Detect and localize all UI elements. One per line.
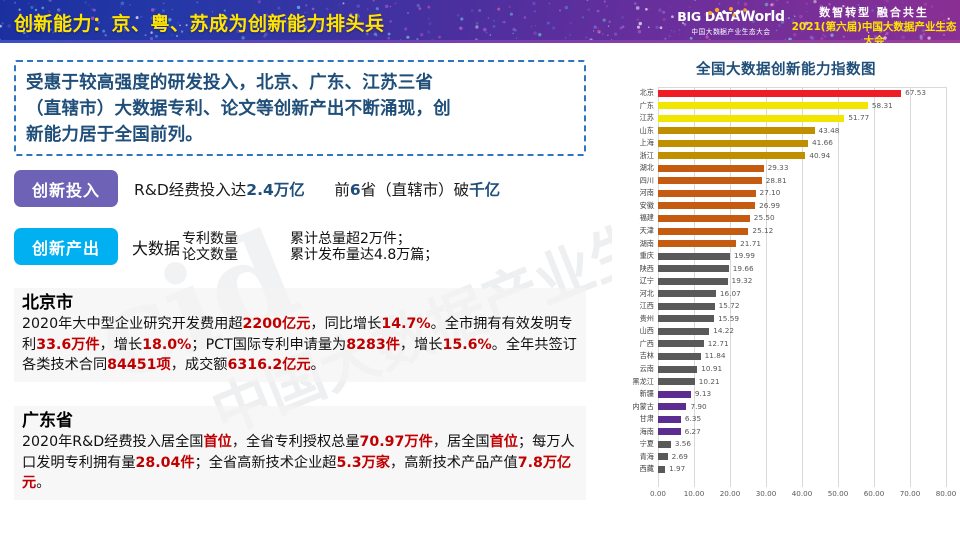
- highlight-value: 84451项: [107, 357, 171, 373]
- bigdata-world-logo: BIG DATAWorld 中国大数据产业生态大会: [676, 4, 786, 40]
- chart-category-label: 广东: [612, 100, 654, 113]
- chart-category-label: 浙江: [612, 150, 654, 163]
- chart-bar-row: 北京67.53: [658, 87, 946, 100]
- highlight-value: 首位: [490, 434, 518, 450]
- header-bar: 创新能力：京、粤、苏成为创新能力排头兵 BIG DATAWorld 中国大数据产…: [0, 0, 960, 43]
- chart-value-label: 14.22: [713, 325, 734, 338]
- top-provinces-suffix: 省（直辖市）破: [361, 181, 470, 199]
- chart-value-label: 12.71: [708, 338, 729, 351]
- logo-dot-cluster: [700, 5, 756, 17]
- chart-category-label: 山西: [612, 325, 654, 338]
- chart-bar-row: 广东58.31: [658, 100, 946, 113]
- chart-category-label: 贵州: [612, 313, 654, 326]
- chart-bar-row: 山西14.22: [658, 325, 946, 338]
- chart-value-label: 11.84: [705, 350, 726, 363]
- chart-bar-row: 贵州15.59: [658, 313, 946, 326]
- highlight-value: 6316.2亿元: [227, 357, 310, 373]
- chart-bar-row: 云南10.91: [658, 363, 946, 376]
- chart-value-label: 25.50: [754, 212, 775, 225]
- logo-subtitle: 中国大数据产业生态大会: [676, 26, 786, 36]
- chart-category-label: 上海: [612, 137, 654, 150]
- rd-expense-value: 2.4万亿: [246, 181, 304, 199]
- chart-bar: [658, 265, 729, 272]
- page-title: 创新能力：京、粤、苏成为创新能力排头兵: [14, 9, 385, 36]
- output-value-stack: 累计总量超2万件； 累计发布量达4.8万篇；: [290, 231, 438, 263]
- chart-x-tick: 60.00: [864, 489, 885, 498]
- chart-value-label: 41.66: [812, 137, 833, 150]
- chart-value-label: 6.27: [685, 426, 701, 439]
- chart-category-label: 云南: [612, 363, 654, 376]
- chart-value-label: 51.77: [848, 112, 869, 125]
- chart-bar-row: 内蒙古7.90: [658, 401, 946, 414]
- chart-bar: [658, 215, 750, 222]
- body-text: ，全省专利授权总量: [232, 434, 360, 450]
- chart-bar-row: 重庆19.99: [658, 250, 946, 263]
- chart-bar-row: 黑龙江10.21: [658, 376, 946, 389]
- chart-bar-row: 辽宁19.32: [658, 275, 946, 288]
- chart-value-label: 29.33: [768, 162, 789, 175]
- chart-axis-line: [658, 87, 946, 88]
- chart-bar: [658, 428, 681, 435]
- chart-bar-row: 新疆9.13: [658, 388, 946, 401]
- chart-category-label: 广西: [612, 338, 654, 351]
- chart-bar-row: 山东43.48: [658, 125, 946, 138]
- chart-x-tick: 30.00: [756, 489, 777, 498]
- chart-bar-row: 陕西19.66: [658, 263, 946, 276]
- chart-bar: [658, 278, 728, 285]
- chart-category-label: 安徽: [612, 200, 654, 213]
- chart-category-label: 新疆: [612, 388, 654, 401]
- chart-bar-row: 天津25.12: [658, 225, 946, 238]
- chart-bar: [658, 328, 709, 335]
- chart-bar: [658, 391, 691, 398]
- conference-slogan: 数智转型 融合共生: [790, 6, 958, 20]
- highlight-value: 28.04件: [136, 455, 195, 471]
- left-content-panel: 受惠于较高强度的研发投入，北京、广东、江苏三省 （直辖市）大数据专利、论文等创新…: [0, 46, 612, 540]
- chart-category-label: 青海: [612, 451, 654, 464]
- chart-x-tick: 40.00: [792, 489, 813, 498]
- chart-bar-row: 湖南21.71: [658, 238, 946, 251]
- chart-x-tick: 10.00: [684, 489, 705, 498]
- top-provinces-threshold: 千亿: [469, 181, 500, 199]
- chart-category-label: 重庆: [612, 250, 654, 263]
- chart-panel: 全国大数据创新能力指数图 北京67.53广东58.31江苏51.77山东43.4…: [612, 46, 960, 540]
- chart-value-label: 10.91: [701, 363, 722, 376]
- chart-bar: [658, 466, 665, 473]
- conference-banner: 数智转型 融合共生 2021(第六届)中国大数据产业生态大会: [790, 6, 958, 43]
- chart-bar: [658, 177, 762, 184]
- chart-category-label: 内蒙古: [612, 401, 654, 414]
- chart-bar: [658, 441, 671, 448]
- chart-category-label: 海南: [612, 426, 654, 439]
- body-text: 2020年大中型企业研究开发费用超: [22, 316, 243, 332]
- chart-category-label: 辽宁: [612, 275, 654, 288]
- chart-x-tick: 80.00: [936, 489, 957, 498]
- chart-value-label: 25.12: [752, 225, 773, 238]
- city-block-guangdong: 广东省 2020年R&D经费投入居全国首位，全省专利授权总量70.97万件，居全…: [14, 406, 586, 500]
- conference-name: 2021(第六届)中国大数据产业生态大会: [790, 20, 958, 43]
- output-value-papers: 累计发布量达4.8万篇；: [290, 247, 438, 263]
- chart-category-label: 陕西: [612, 263, 654, 276]
- output-metric-papers: 论文数量: [182, 247, 238, 263]
- top-provinces-prefix: 前: [334, 181, 350, 199]
- chart-bar: [658, 240, 736, 247]
- bigdata-output-group: 大数据 专利数量 论文数量 累计总量超2万件； 累计发布量达4.8万篇；: [132, 231, 438, 263]
- chart-bar-row: 浙江40.94: [658, 150, 946, 163]
- chart-category-label: 黑龙江: [612, 376, 654, 389]
- chart-x-tick: 20.00: [720, 489, 741, 498]
- chart-category-label: 北京: [612, 87, 654, 100]
- chart-value-label: 9.13: [695, 388, 711, 401]
- chart-x-tick: 70.00: [900, 489, 921, 498]
- chart-value-label: 19.99: [734, 250, 755, 263]
- chart-bar-row: 广西12.71: [658, 338, 946, 351]
- callout-line-3: 新能力居于全国前列。: [26, 125, 203, 145]
- chart-value-label: 40.94: [809, 150, 830, 163]
- beijing-body: 2020年大中型企业研究开发费用超2200亿元，同比增长14.7%。全市拥有有效…: [22, 314, 578, 376]
- chart-bar-row: 宁夏3.56: [658, 438, 946, 451]
- innovation-input-text: R&D经费投入达2.4万亿 前6省（直辖市）破千亿: [134, 178, 500, 200]
- chart-bar: [658, 303, 715, 310]
- chart-value-label: 43.48: [819, 125, 840, 138]
- chart-bar: [658, 202, 755, 209]
- callout-line-2: （直辖市）大数据专利、论文等创新产出不断涌现，创: [26, 99, 451, 119]
- chart-value-label: 58.31: [872, 100, 893, 113]
- chart-bar-row: 江苏51.77: [658, 112, 946, 125]
- chart-bar: [658, 90, 901, 97]
- beijing-title: 北京市: [22, 292, 578, 314]
- chart-value-label: 6.35: [685, 413, 701, 426]
- chart-title: 全国大数据创新能力指数图: [612, 46, 960, 79]
- chart-category-label: 宁夏: [612, 438, 654, 451]
- chart-bar: [658, 453, 668, 460]
- chart-category-label: 甘肃: [612, 413, 654, 426]
- slide-root: 创新能力：京、粤、苏成为创新能力排头兵 BIG DATAWorld 中国大数据产…: [0, 0, 960, 540]
- body-text: ，居全国: [433, 434, 490, 450]
- chart-category-label: 湖北: [612, 162, 654, 175]
- chart-bar: [658, 253, 730, 260]
- chart-bar: [658, 416, 681, 423]
- chart-category-label: 江苏: [612, 112, 654, 125]
- chart-bar: [658, 403, 686, 410]
- chart-x-axis: 0.0010.0020.0030.0040.0050.0060.0070.008…: [658, 487, 946, 503]
- chart-bar-row: 甘肃6.35: [658, 413, 946, 426]
- chart-x-tick: 0.00: [650, 489, 666, 498]
- chart-bar-row: 吉林11.84: [658, 350, 946, 363]
- rd-expense-label: R&D经费投入达: [134, 181, 246, 199]
- highlight-value: 15.6%: [443, 337, 492, 353]
- chart-bar: [658, 353, 701, 360]
- chart-category-label: 湖南: [612, 238, 654, 251]
- chart-value-label: 1.97: [669, 463, 685, 476]
- chart-bar: [658, 140, 808, 147]
- row-innovation-input: 创新投入 R&D经费投入达2.4万亿 前6省（直辖市）破千亿: [14, 170, 500, 207]
- body-text: ；PCT国际专利申请量为: [191, 337, 346, 353]
- chart-value-label: 15.59: [718, 313, 739, 326]
- chart-bar-row: 青海2.69: [658, 451, 946, 464]
- output-value-patents: 累计总量超2万件；: [290, 231, 438, 247]
- chart-bar: [658, 190, 756, 197]
- chart-bar-row: 江西15.72: [658, 300, 946, 313]
- chart-bar: [658, 152, 805, 159]
- chart-category-label: 江西: [612, 300, 654, 313]
- chart-bar-row: 湖北29.33: [658, 162, 946, 175]
- bigdata-prefix-label: 大数据: [132, 235, 180, 259]
- chart-category-label: 河北: [612, 288, 654, 301]
- chart-value-label: 3.56: [675, 438, 691, 451]
- chart-value-label: 10.21: [699, 376, 720, 389]
- badge-innovation-output[interactable]: 创新产出: [14, 228, 118, 265]
- top-provinces-count: 6: [350, 181, 361, 199]
- chart-bar: [658, 165, 764, 172]
- chart-value-label: 21.71: [740, 238, 761, 251]
- chart-bar: [658, 378, 695, 385]
- chart-value-label: 28.81: [766, 175, 787, 188]
- chart-bar: [658, 228, 748, 235]
- chart-value-label: 2.69: [672, 451, 688, 464]
- chart-value-label: 26.99: [759, 200, 780, 213]
- chart-bar: [658, 340, 704, 347]
- chart-value-label: 19.32: [732, 275, 753, 288]
- chart-bar-row: 河南27.10: [658, 187, 946, 200]
- chart-category-label: 福建: [612, 212, 654, 225]
- chart-bar-row: 西藏1.97: [658, 463, 946, 476]
- chart-value-label: 67.53: [905, 87, 926, 100]
- summary-callout: 受惠于较高强度的研发投入，北京、广东、江苏三省 （直辖市）大数据专利、论文等创新…: [14, 60, 586, 156]
- chart-bar-row: 四川28.81: [658, 175, 946, 188]
- body-text: ，成交额: [171, 357, 228, 373]
- chart-category-label: 天津: [612, 225, 654, 238]
- output-metric-patents: 专利数量: [182, 231, 238, 247]
- highlight-value: 5.3万家: [336, 455, 390, 471]
- chart-bar: [658, 115, 844, 122]
- highlight-value: 8283件: [346, 337, 400, 353]
- chart-category-label: 山东: [612, 125, 654, 138]
- chart-bar: [658, 290, 716, 297]
- chart-gridline: [946, 87, 947, 487]
- output-metric-stack: 专利数量 论文数量: [182, 231, 238, 263]
- body-text: ，增长: [100, 337, 143, 353]
- chart-bar: [658, 102, 868, 109]
- body-text: ，增长: [400, 337, 443, 353]
- guangdong-title: 广东省: [22, 410, 578, 432]
- chart-category-label: 河南: [612, 187, 654, 200]
- body-text: 。: [36, 475, 50, 491]
- city-block-beijing: 北京市 2020年大中型企业研究开发费用超2200亿元，同比增长14.7%。全市…: [14, 288, 586, 382]
- chart-category-label: 吉林: [612, 350, 654, 363]
- body-text: ；全省高新技术企业超: [195, 455, 337, 471]
- chart-x-tick: 50.00: [828, 489, 849, 498]
- chart-value-label: 7.90: [690, 401, 706, 414]
- row-innovation-output: 创新产出 大数据 专利数量 论文数量 累计总量超2万件； 累计发布量达4.8万篇…: [14, 228, 438, 265]
- body-text: 2020年R&D经费投入居全国: [22, 434, 203, 450]
- chart-bar: [658, 366, 697, 373]
- guangdong-body: 2020年R&D经费投入居全国首位，全省专利授权总量70.97万件，居全国首位；…: [22, 432, 578, 494]
- chart-bar-row: 上海41.66: [658, 137, 946, 150]
- chart-bar-row: 海南6.27: [658, 426, 946, 439]
- chart-value-label: 19.66: [733, 263, 754, 276]
- body-text: 。: [311, 357, 325, 373]
- highlight-value: 18.0%: [142, 337, 191, 353]
- chart-bar: [658, 315, 714, 322]
- highlight-value: 14.7%: [381, 316, 430, 332]
- chart-value-label: 15.72: [719, 300, 740, 313]
- chart-area: 北京67.53广东58.31江苏51.77山东43.48上海41.66浙江40.…: [612, 87, 960, 503]
- chart-bar: [658, 127, 815, 134]
- highlight-value: 70.97万件: [360, 434, 433, 450]
- chart-bar-row: 河北16.07: [658, 288, 946, 301]
- chart-value-label: 16.07: [720, 288, 741, 301]
- highlight-value: 首位: [203, 434, 231, 450]
- chart-category-label: 西藏: [612, 463, 654, 476]
- chart-bar-row: 安徽26.99: [658, 200, 946, 213]
- callout-line-1: 受惠于较高强度的研发投入，北京、广东、江苏三省: [26, 73, 433, 93]
- chart-bar-row: 福建25.50: [658, 212, 946, 225]
- highlight-value: 2200亿元: [243, 316, 311, 332]
- body-text: ，同比增长: [310, 316, 381, 332]
- highlight-value: 33.6万件: [36, 337, 99, 353]
- chart-value-label: 27.10: [760, 187, 781, 200]
- body-text: ，高新技术产品产值: [390, 455, 518, 471]
- chart-plot: 北京67.53广东58.31江苏51.77山东43.48上海41.66浙江40.…: [658, 87, 946, 487]
- chart-category-label: 四川: [612, 175, 654, 188]
- badge-innovation-input[interactable]: 创新投入: [14, 170, 118, 207]
